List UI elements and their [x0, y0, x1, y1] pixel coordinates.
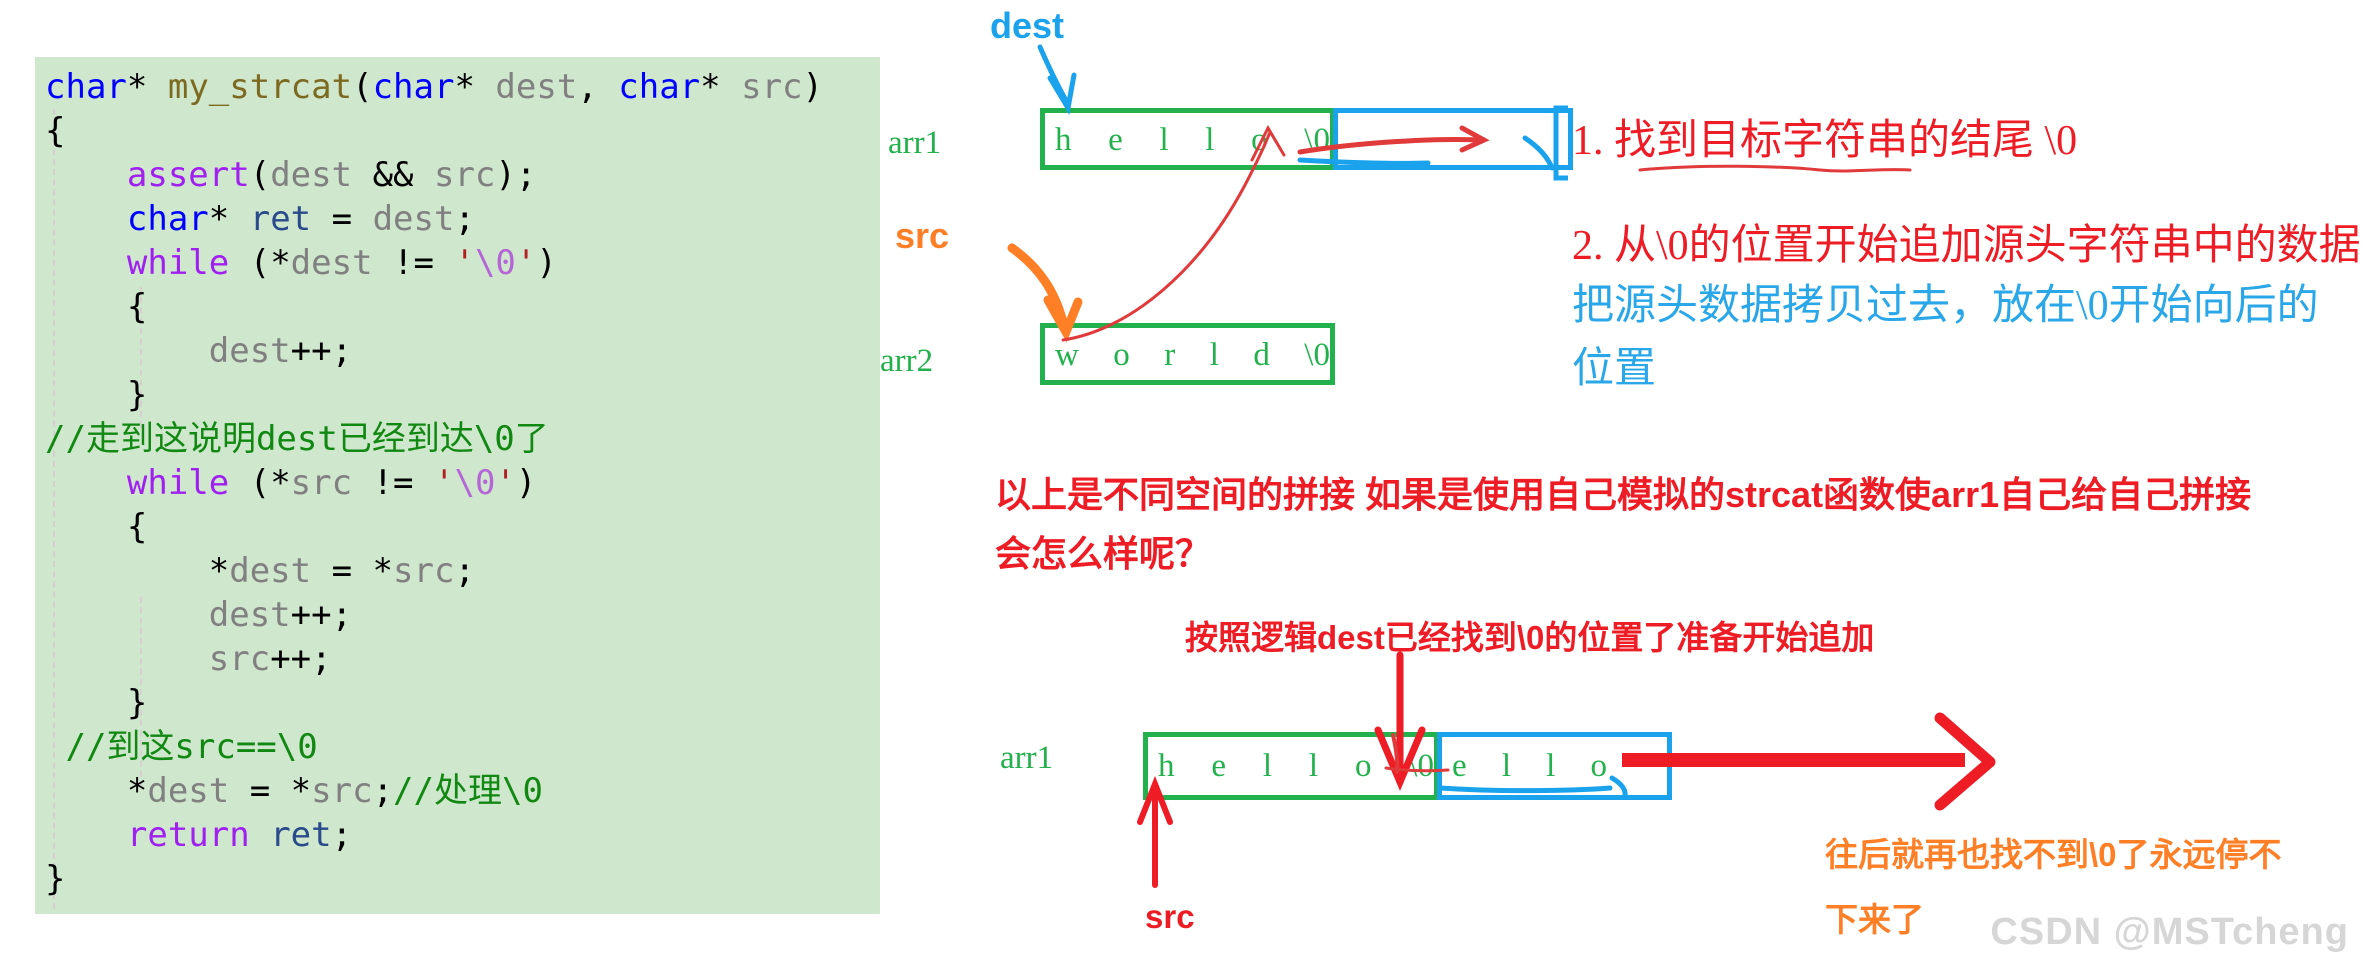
code-token: dest — [229, 551, 311, 591]
code-line: dest++; — [45, 329, 880, 373]
code-token: src — [311, 771, 372, 811]
memory-cell: l — [1546, 748, 1555, 785]
memory-cell: l — [1309, 748, 1318, 785]
memory-cell: w — [1055, 337, 1079, 374]
dest-arrow-head — [1050, 75, 1074, 108]
code-token: ++; — [270, 639, 331, 679]
memory-cell: o — [1590, 748, 1607, 785]
memory-cell: l — [1159, 122, 1168, 159]
memory-cell: o — [1355, 748, 1372, 785]
memory-cell: o — [1251, 122, 1268, 159]
code-token: * — [45, 551, 229, 591]
code-token: char — [45, 67, 127, 107]
code-token: char — [373, 67, 455, 107]
code-token — [45, 815, 127, 855]
code-token: ++; — [291, 595, 352, 635]
code-token: ); — [495, 155, 536, 195]
code-panel: char* my_strcat(char* dest, char* src){ … — [35, 57, 880, 914]
code-line: } — [45, 373, 880, 417]
arr1-blue-box-top — [1333, 108, 1573, 170]
code-token: src — [393, 551, 454, 591]
code-token: src — [291, 463, 352, 503]
memory-cell: \0 — [1304, 337, 1330, 374]
code-token: ret — [250, 199, 311, 239]
code-token: { — [45, 507, 147, 547]
code-line: } — [45, 681, 880, 725]
code-token: char — [127, 199, 209, 239]
code-token: != — [352, 463, 434, 503]
code-token: ; — [454, 199, 474, 239]
code-line: src++; — [45, 637, 880, 681]
memory-cell: r — [1164, 337, 1175, 374]
code-token: (* — [229, 243, 290, 283]
infinite-loop-arrow-head — [1940, 718, 1990, 805]
dest-arrow — [1040, 47, 1068, 104]
code-token: ) — [516, 463, 536, 503]
code-line: //走到这说明dest已经到达\0了 — [45, 417, 880, 461]
arr1-green-cells-bottom: hello\0 — [1158, 736, 1434, 796]
memory-cell: e — [1211, 748, 1226, 785]
code-token — [45, 331, 209, 371]
code-token: src — [209, 639, 270, 679]
code-token: //到这src==\0 — [45, 727, 318, 767]
code-token: while — [127, 463, 229, 503]
code-line: char* my_strcat(char* dest, char* src) — [45, 65, 880, 109]
code-token: ( — [250, 155, 270, 195]
code-token — [45, 155, 127, 195]
code-line: while (*src != '\0') — [45, 461, 880, 505]
code-line: { — [45, 109, 880, 153]
note-middle-line-2: 会怎么样呢？ — [995, 527, 1211, 581]
code-token — [250, 815, 270, 855]
code-token: ' — [495, 463, 515, 503]
code-token: = * — [311, 551, 393, 591]
memory-cell: d — [1253, 337, 1270, 374]
code-line: char* ret = dest; — [45, 197, 880, 241]
code-token: ; — [332, 815, 352, 855]
arr2-label: arr2 — [880, 343, 933, 380]
code-token: src — [434, 155, 495, 195]
code-token — [45, 639, 209, 679]
code-token: * — [127, 67, 168, 107]
code-listing: char* my_strcat(char* dest, char* src){ … — [45, 65, 880, 914]
code-token: , — [577, 67, 618, 107]
code-token: ; — [373, 771, 393, 811]
code-token: * — [209, 199, 250, 239]
src-arrow — [1012, 248, 1063, 322]
code-token: ; — [454, 551, 474, 591]
code-token: } — [45, 859, 65, 899]
code-token: char — [618, 67, 700, 107]
code-token: * — [700, 67, 741, 107]
memory-cell: \0 — [1408, 748, 1434, 785]
code-token: my_strcat — [168, 67, 352, 107]
code-line: while (*dest != '\0') — [45, 241, 880, 285]
code-token: //处理\0 — [393, 771, 543, 811]
code-token: ' — [516, 243, 536, 283]
arr1-blue-cells-bottom: ello — [1452, 736, 1607, 796]
code-token: = * — [229, 771, 311, 811]
code-line: *dest = *src; — [45, 549, 880, 593]
code-token: * — [45, 771, 147, 811]
code-token: * — [454, 67, 495, 107]
code-token: dest — [209, 331, 291, 371]
code-token — [45, 595, 209, 635]
code-token: dest — [147, 771, 229, 811]
code-token — [45, 243, 127, 283]
code-token: dest — [209, 595, 291, 635]
code-token: ) — [536, 243, 556, 283]
note-step-2-detail: 把源头数据拷贝过去，放在\0开始向后的位置 — [1572, 275, 2342, 401]
code-token: { — [45, 111, 65, 151]
code-token: assert — [127, 155, 250, 195]
code-token: dest — [373, 199, 455, 239]
note-step-1: 1. 找到目标字符串的结尾 \0 — [1572, 110, 2077, 173]
memory-cell: h — [1158, 748, 1175, 785]
code-token: ) — [803, 67, 823, 107]
memory-cell: o — [1113, 337, 1130, 374]
arr1-cells-top: hello\0 — [1055, 112, 1330, 168]
memory-cell: l — [1263, 748, 1272, 785]
code-token: (* — [229, 463, 290, 503]
code-line: dest++; — [45, 593, 880, 637]
code-token: while — [127, 243, 229, 283]
code-token: //走到这说明dest已经到达\0了 — [45, 419, 549, 459]
code-line: *dest = *src;//处理\0 — [45, 769, 880, 813]
screenshot-canvas: char* my_strcat(char* dest, char* src){ … — [0, 0, 2377, 964]
code-token — [45, 463, 127, 503]
arr2-cells: world\0 — [1055, 327, 1330, 383]
code-line: assert(dest && src); — [45, 153, 880, 197]
code-token: dest — [270, 155, 352, 195]
code-token: return — [127, 815, 250, 855]
note-middle-line-1: 以上是不同空间的拼接 如果是使用自己模拟的strcat函数使arr1自己给自己拼… — [995, 468, 2251, 522]
code-token: ' — [434, 463, 454, 503]
code-token: ( — [352, 67, 372, 107]
arr1-label-bottom: arr1 — [1000, 740, 1053, 777]
note-tail-line-2: 下来了 — [1825, 895, 1924, 945]
code-token: && — [352, 155, 434, 195]
memory-cell: l — [1502, 748, 1511, 785]
note-step-2: 2. 从\0的位置开始追加源头字符串中的数据 — [1572, 215, 2361, 278]
code-line: { — [45, 505, 880, 549]
code-token: { — [45, 287, 147, 327]
memory-cell: h — [1055, 122, 1072, 159]
code-token: != — [373, 243, 455, 283]
code-token: = — [311, 199, 372, 239]
code-token: dest — [495, 67, 577, 107]
code-token — [45, 199, 127, 239]
memory-cell: e — [1108, 122, 1123, 159]
code-token: \0 — [475, 243, 516, 283]
code-line: //到这src==\0 — [45, 725, 880, 769]
memory-cell: e — [1452, 748, 1467, 785]
code-token: \0 — [454, 463, 495, 503]
code-token: ++; — [291, 331, 352, 371]
memory-cell: \0 — [1304, 122, 1330, 159]
memory-cell: l — [1210, 337, 1219, 374]
code-line: } — [45, 857, 880, 901]
code-token: } — [45, 375, 147, 415]
memory-cell: l — [1205, 122, 1214, 159]
code-token: dest — [291, 243, 373, 283]
note-tail-line-1: 往后就再也找不到\0了永远停不 — [1825, 830, 2282, 880]
code-line: return ret; — [45, 813, 880, 857]
dest-pointer-label: dest — [990, 5, 1064, 47]
arr1-label-top: arr1 — [888, 125, 941, 162]
code-line: { — [45, 285, 880, 329]
code-token: ret — [270, 815, 331, 855]
code-token: src — [741, 67, 802, 107]
watermark: CSDN @MSTcheng — [1990, 911, 2349, 954]
code-token: ' — [454, 243, 474, 283]
code-token: } — [45, 683, 147, 723]
note-bottom-headline: 按照逻辑dest已经找到\0的位置了准备开始追加 — [1185, 613, 1874, 663]
src-pointer-label: src — [895, 215, 949, 257]
src-pointer-label-bottom: src — [1145, 898, 1195, 936]
